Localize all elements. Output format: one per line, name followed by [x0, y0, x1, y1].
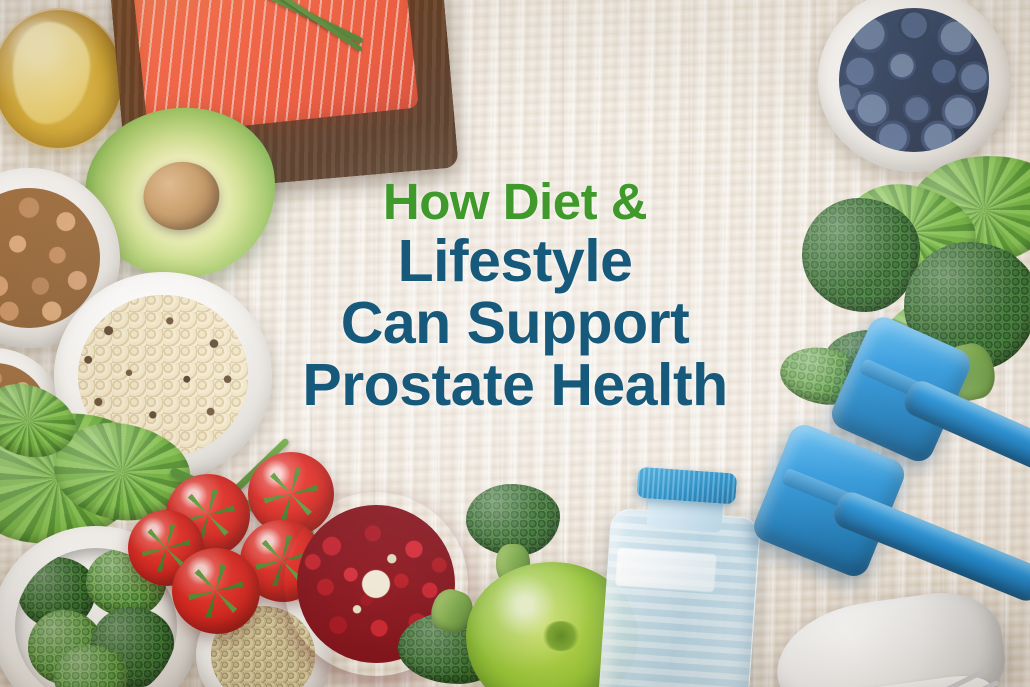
broccoli-head-left: [802, 198, 920, 312]
tomato-crown: [263, 467, 318, 521]
blueberry-bowl: [818, 0, 1010, 172]
bottle-label: [615, 547, 716, 592]
prostate-health-banner: How Diet & Lifestyle Can Support Prostat…: [0, 0, 1030, 687]
water-bottle: [598, 465, 764, 687]
apple-dimple: [542, 621, 580, 652]
avocado-pit: [139, 157, 224, 235]
oil-bowl-rim: [0, 8, 124, 150]
tomato-crown: [188, 563, 244, 618]
olive-oil-bowl: [0, 8, 124, 150]
tomato-bottom: [172, 548, 260, 634]
blueberries: [839, 8, 989, 152]
blueberry-bowl-interior: [839, 8, 989, 152]
bottle-body: [598, 508, 761, 687]
